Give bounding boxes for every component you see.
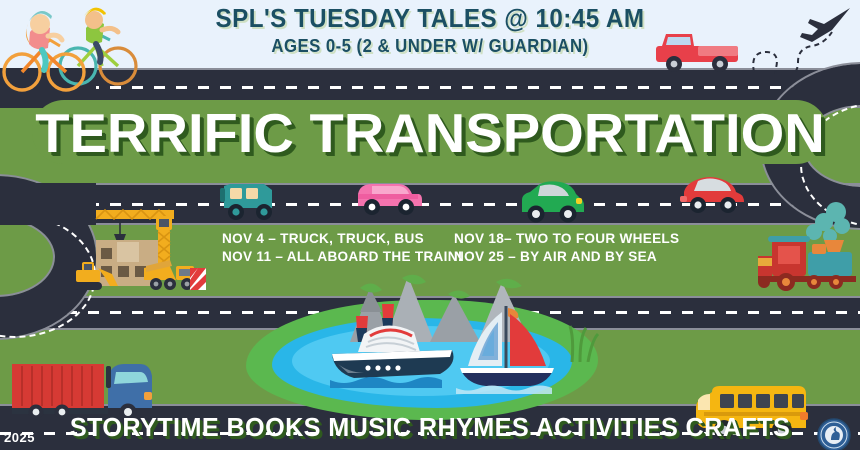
car-pink-convertible-icon xyxy=(354,174,424,220)
car-green-compact-icon xyxy=(518,178,586,226)
cruise-ship-icon xyxy=(324,288,464,398)
train-icon xyxy=(758,200,860,292)
page-title: SPL'S TUESDAY TALES @ 10:45 AM xyxy=(30,3,830,34)
poster-canvas: SPL'S TUESDAY TALES @ 10:45 AM AGES 0-5 … xyxy=(0,0,860,450)
car-red-icon xyxy=(678,172,746,218)
sailboat-icon xyxy=(452,300,562,396)
construction-scene-icon xyxy=(72,196,208,296)
schedule-item: NOV 25 – BY AIR AND BY SEA xyxy=(454,248,656,264)
title-text: TERRIFIC TRANSPORTATION xyxy=(24,104,836,162)
schedule-list: NOV 4 – TRUCK, TRUCK, BUS NOV 18– TWO TO… xyxy=(222,230,662,264)
year-label: 2025 xyxy=(4,430,35,445)
car-teal-suv-icon xyxy=(214,174,280,226)
bottom-banner-text: STORYTIME BOOKS MUSIC RHYMES ACTIVITIES … xyxy=(13,412,847,443)
schedule-item: NOV 11 – ALL ABOARD THE TRAIN! xyxy=(222,248,447,264)
schedule-item: NOV 4 – TRUCK, TRUCK, BUS xyxy=(222,230,447,246)
semi-truck-icon xyxy=(6,358,158,420)
library-seal-icon xyxy=(817,418,851,450)
schedule-item: NOV 18– TWO TO FOUR WHEELS xyxy=(454,230,656,246)
page-subtitle: AGES 0-5 (2 & UNDER W/ GUARDIAN) xyxy=(30,36,830,57)
reeds-icon xyxy=(566,318,600,362)
